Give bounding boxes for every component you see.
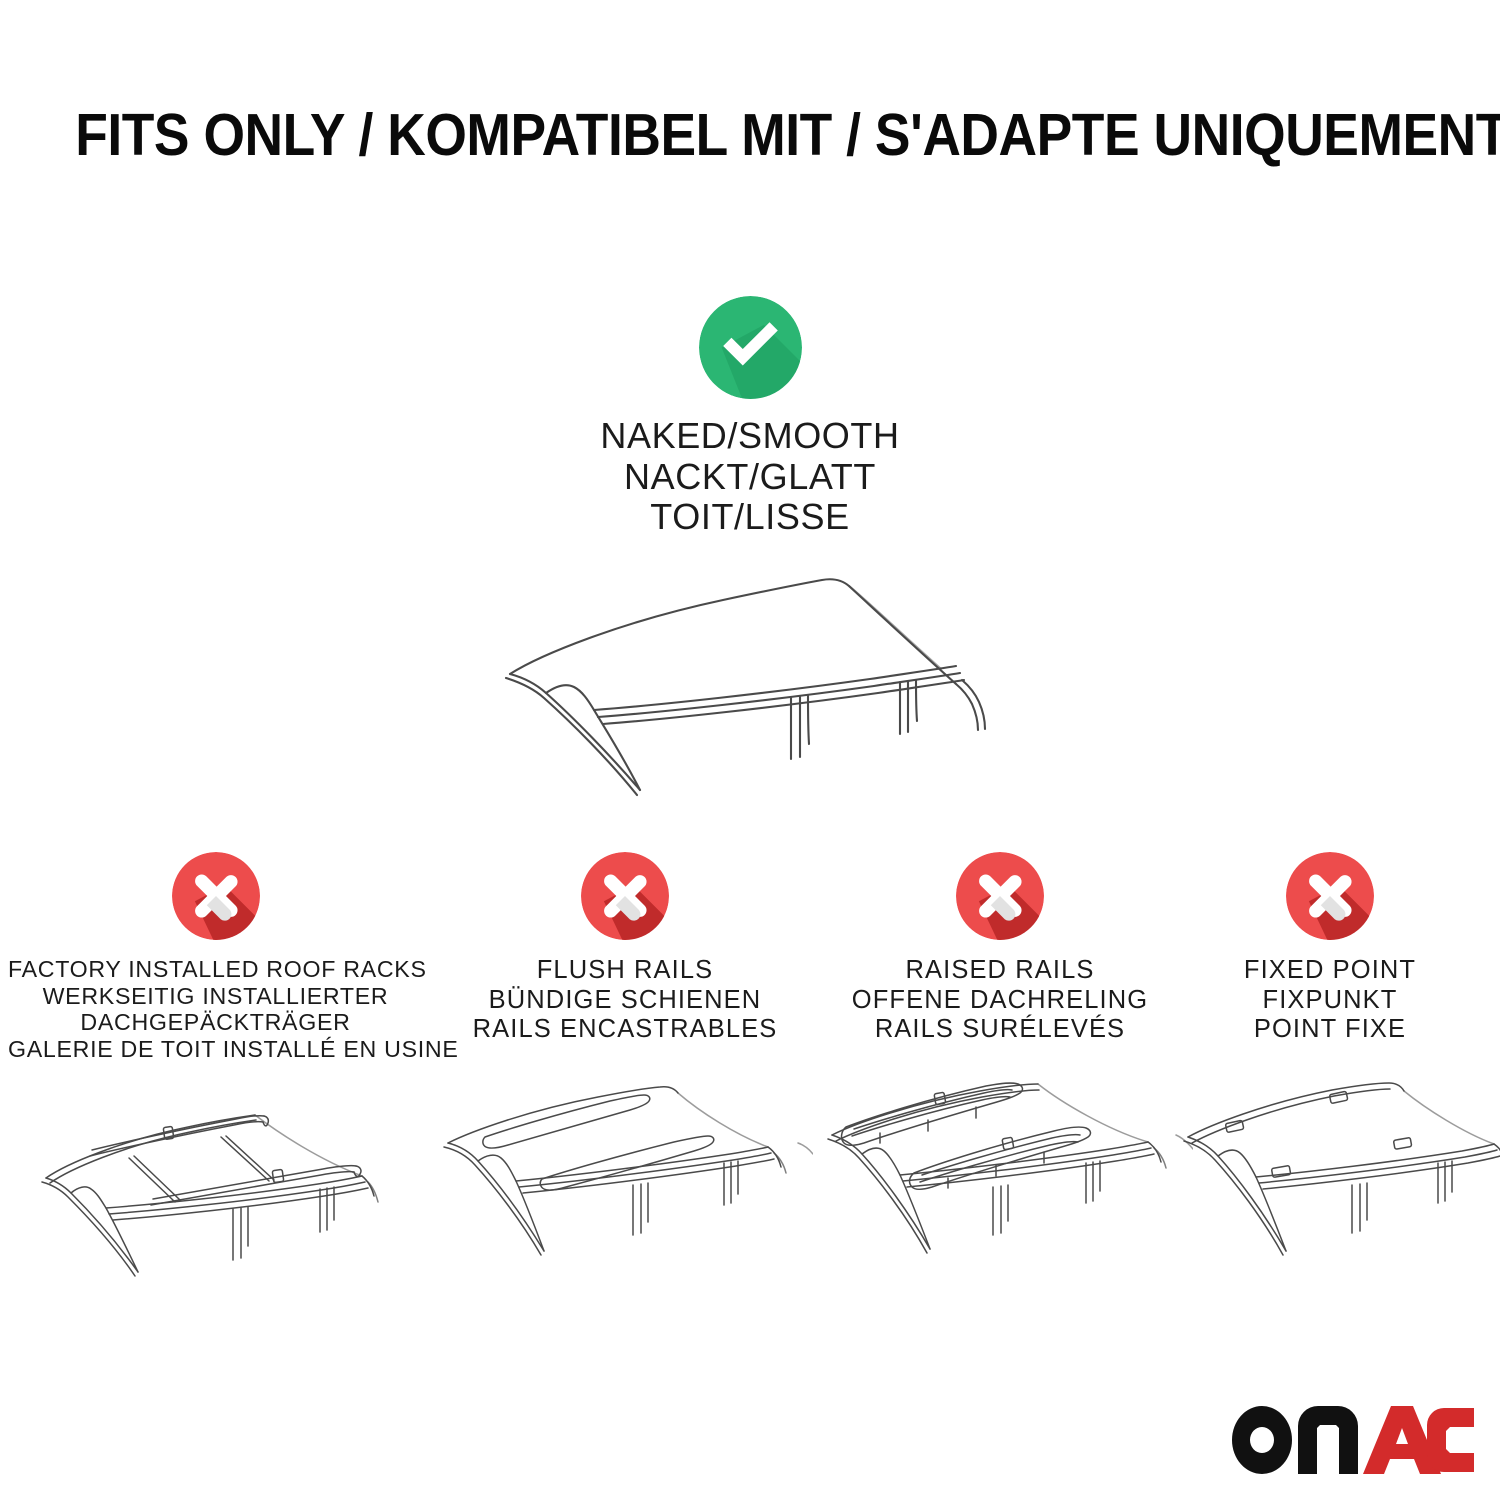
incompatible-factory-roof-racks-label: FACTORY INSTALLED ROOF RACKS WERKSEITIG … <box>8 956 423 1062</box>
page-title: FITS ONLY / KOMPATIBEL MIT / S'ADAPTE UN… <box>75 104 1500 166</box>
x-circle-glyph <box>1286 852 1374 940</box>
incompatible-factory-roof-racks-card: FACTORY INSTALLED ROOF RACKS WERKSEITIG … <box>8 852 423 1311</box>
header: FITS ONLY / KOMPATIBEL MIT / S'ADAPTE UN… <box>0 104 1500 166</box>
compatible-roof-card: NAKED/SMOOTH NACKT/GLATT TOIT/LISSE <box>0 296 1500 820</box>
x-circle-icon <box>956 852 1044 940</box>
x-circle-icon <box>172 852 260 940</box>
x-circle-glyph <box>956 852 1044 940</box>
car-roof-naked-smooth-illustration <box>470 552 1030 820</box>
compatible-roof-label: NAKED/SMOOTH NACKT/GLATT TOIT/LISSE <box>0 416 1500 538</box>
logo-letter-o <box>1232 1406 1292 1474</box>
check-circle-icon <box>699 296 802 399</box>
logo-letter-c <box>1427 1408 1474 1472</box>
omac-logo <box>1232 1406 1474 1474</box>
car-roof-factory-racks-illustration <box>28 1086 403 1311</box>
logo-letter-m <box>1298 1406 1358 1474</box>
incompatible-fixed-point-card: FIXED POINT FIXPUNKT POINT FIXE <box>1180 852 1480 1300</box>
x-circle-icon <box>1286 852 1374 940</box>
car-roof-fixed-point-illustration <box>1180 1075 1500 1300</box>
car-roof-flush-rails-illustration <box>438 1075 813 1300</box>
incompatible-raised-rails-card: RAISED RAILS OFFENE DACHRELING RAILS SUR… <box>818 852 1182 1300</box>
check-circle-glyph <box>699 296 802 399</box>
incompatible-flush-rails-label: FLUSH RAILS BÜNDIGE SCHIENEN RAILS ENCAS… <box>435 956 815 1045</box>
x-circle-glyph <box>581 852 669 940</box>
car-roof-raised-rails-illustration <box>818 1075 1193 1300</box>
incompatible-flush-rails-card: FLUSH RAILS BÜNDIGE SCHIENEN RAILS ENCAS… <box>435 852 815 1300</box>
x-circle-icon <box>581 852 669 940</box>
incompatible-raised-rails-label: RAISED RAILS OFFENE DACHRELING RAILS SUR… <box>818 956 1182 1045</box>
incompatible-fixed-point-label: FIXED POINT FIXPUNKT POINT FIXE <box>1180 956 1480 1045</box>
x-circle-glyph <box>172 852 260 940</box>
